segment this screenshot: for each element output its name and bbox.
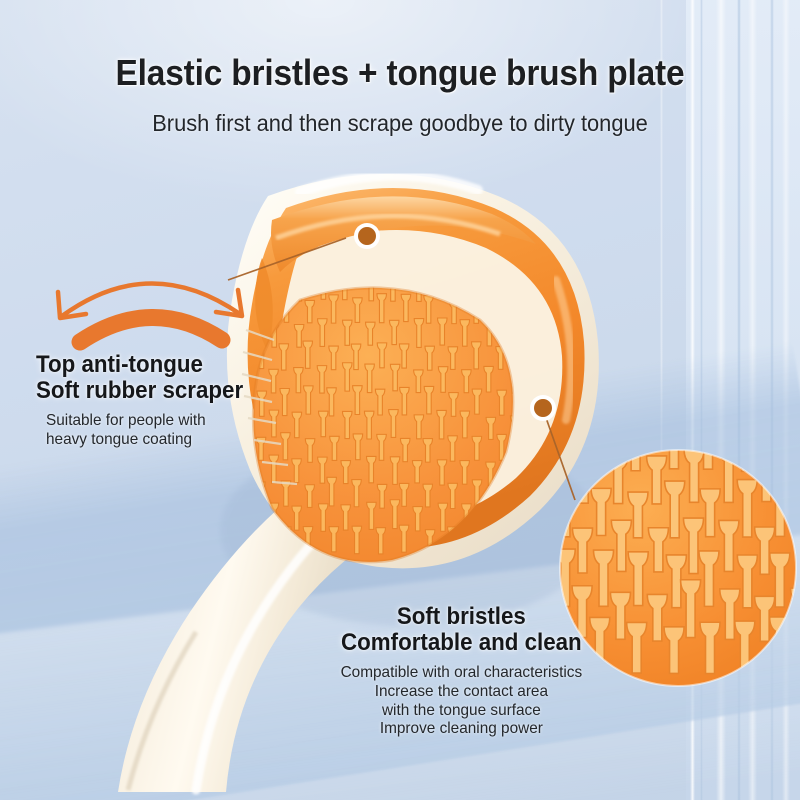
annotation-heading-line2: Soft rubber scraper [36, 378, 243, 404]
annotation-body-line4: Improve cleaning power [337, 720, 585, 739]
infographic-canvas: Elastic bristles + tongue brush plate Br… [0, 0, 800, 800]
callout-dot-scraper [354, 223, 380, 249]
annotation-heading-line1: Top anti-tongue [36, 352, 243, 378]
annotation-body-line1: Compatible with oral characteristics [337, 664, 585, 683]
annotation-heading-line1: Soft bristles [341, 604, 582, 630]
annotation-soft-bristles: Soft bristles Comfortable and clean Comp… [332, 604, 591, 739]
annotation-top-scraper: Top anti-tongue Soft rubber scraper Suit… [36, 352, 259, 450]
annotation-body-line3: with the tongue surface [337, 702, 585, 721]
annotation-body-line2: heavy tongue coating [46, 431, 250, 450]
page-title: Elastic bristles + tongue brush plate [28, 52, 772, 94]
callout-dot-bristles [530, 395, 556, 421]
page-subtitle: Brush first and then scrape goodbye to d… [20, 110, 780, 137]
leader-line-bristles [545, 415, 575, 500]
annotation-heading-line2: Comfortable and clean [341, 630, 582, 656]
annotation-body-line2: Increase the contact area [337, 683, 585, 702]
annotation-body-line1: Suitable for people with [46, 412, 250, 431]
curved-scraper-bar [80, 317, 222, 342]
leader-line-scraper [228, 238, 346, 280]
